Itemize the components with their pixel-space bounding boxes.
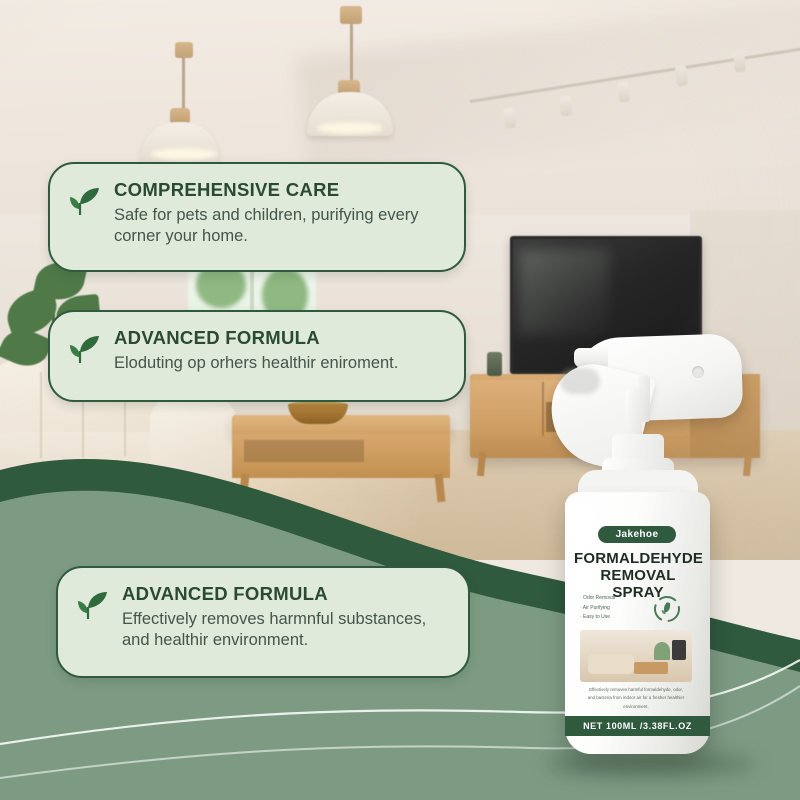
label-photo-tv — [672, 640, 686, 660]
feature-card-title: ADVANCED FORMULA — [122, 584, 446, 604]
product-bullet-list: · Odor Removal · Air Purifying · Easy to… — [580, 594, 642, 623]
net-content-band: NET 100ML /3.38FL.OZ — [565, 716, 710, 736]
fine-print-line: environment. — [580, 703, 692, 711]
feature-card-title: COMPREHENSIVE CARE — [114, 180, 442, 200]
product-spray-bottle[interactable]: Jakehoe FORMALDEHYDE REMOVAL SPRAY · Odo… — [540, 330, 760, 770]
recycle-leaf-icon — [652, 594, 682, 624]
feature-card-title: ADVANCED FORMULA — [114, 328, 398, 348]
advertisement-canvas: COMPREHENSIVE CARE Safe for pets and chi… — [0, 0, 800, 800]
feature-card-comprehensive-care[interactable]: COMPREHENSIVE CARE Safe for pets and chi… — [48, 162, 466, 272]
feature-card-body: Eloduting op orhers healthir eniroment. — [114, 353, 398, 374]
product-bullet: · Odor Removal — [580, 594, 642, 604]
feature-card-advanced-formula-bottom[interactable]: ADVANCED FORMULA Effectively removes har… — [56, 566, 470, 678]
leaf-sprout-icon — [76, 590, 110, 625]
bottle-label-room-photo — [580, 630, 692, 682]
trigger-grip-notch — [560, 368, 600, 394]
product-name-line-1: FORMALDEHYDE — [574, 550, 702, 567]
leaf-sprout-icon — [68, 334, 102, 369]
product-bullet: · Easy to Use — [580, 613, 642, 623]
trigger-pivot-hole — [692, 366, 704, 378]
brand-name: Jakehoe — [616, 529, 659, 540]
label-photo-plant — [654, 642, 670, 660]
feature-card-advanced-formula-top[interactable]: ADVANCED FORMULA Eloduting op orhers hea… — [48, 310, 466, 402]
feature-card-body: Effectively removes harmnful substances,… — [122, 609, 446, 651]
brand-badge: Jakehoe — [598, 526, 676, 543]
fine-print-line: and bacteria from indoor air for a fresh… — [580, 694, 692, 702]
net-content-text: NET 100ML /3.38FL.OZ — [583, 721, 692, 731]
leaf-sprout-icon — [68, 186, 102, 221]
product-fine-print: Effectively removes harmful formaldehyde… — [580, 686, 692, 711]
fine-print-line: Effectively removes harmful formaldehyde… — [580, 686, 692, 694]
product-bullet: · Air Purifying — [580, 604, 642, 614]
label-photo-sofa — [588, 654, 634, 674]
feature-card-body: Safe for pets and children, purifying ev… — [114, 205, 442, 247]
label-photo-table — [634, 662, 668, 674]
